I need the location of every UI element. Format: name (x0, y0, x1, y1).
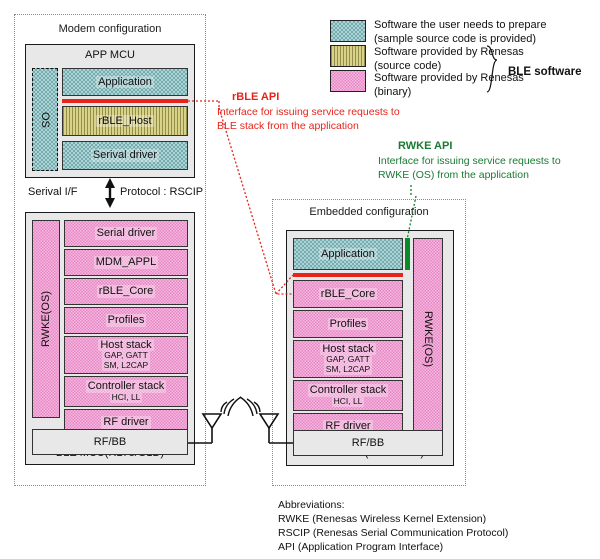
app-mcu-block-serival-driver-label: Serival driver (91, 149, 159, 161)
embedded-block-profiles-label: Profiles (328, 318, 369, 330)
abbreviations-line-3: API (Application Program Interface) (278, 540, 443, 554)
embedded-block-controller-stack-label: Controller stack (308, 384, 388, 396)
radio-wave-arc-right-3 (240, 397, 253, 416)
app-mcu-block-serival-driver: Serival driver (62, 141, 188, 170)
rwke-api-bar-embedded (405, 238, 410, 270)
modem-configuration-title: Modem configuration (14, 23, 206, 35)
modem-block-profiles-label: Profiles (106, 314, 147, 326)
rble-api-line1: Interface for issuing service requests t… (217, 106, 400, 119)
serial-interface-left-label: Serival I/F (28, 186, 78, 198)
modem-rwke-os-column: RWKE(OS) (32, 220, 60, 418)
embedded-block-host-stack: Host stack GAP, GATT SM, L2CAP (293, 340, 403, 378)
embedded-block-application-label: Application (319, 248, 377, 260)
modem-block-serial-driver: Serial driver (64, 220, 188, 247)
embedded-block-rf-bb-label: RF/BB (352, 437, 384, 449)
ble-software-bracket-label: BLE software (508, 66, 582, 78)
app-mcu-block-rble-host: rBLE_Host (62, 106, 188, 136)
app-mcu-block-application-label: Application (96, 76, 154, 88)
legend-swatch-pink (330, 70, 366, 92)
app-mcu-os-label: OS (39, 112, 51, 128)
legend-label-pink-2: (binary) (374, 85, 411, 99)
abbreviations-heading: Abbreviations: (278, 498, 345, 512)
radio-wave-arc-left-2 (224, 399, 234, 414)
modem-block-controller-stack: Controller stack HCI, LL (64, 376, 188, 407)
embedded-block-controller-stack-sub: HCI, LL (332, 397, 365, 407)
app-mcu-title: APP MCU (25, 49, 195, 61)
radio-wave-arc-right-2 (247, 399, 257, 414)
legend-swatch-olive (330, 45, 366, 67)
rble-api-bar-embedded (293, 273, 403, 277)
modem-block-rble-core: rBLE_Core (64, 278, 188, 305)
modem-block-profiles: Profiles (64, 307, 188, 334)
embedded-block-controller-stack: Controller stack HCI, LL (293, 380, 403, 411)
embedded-configuration-title: Embedded configuration (272, 206, 466, 218)
modem-block-serial-driver-label: Serial driver (95, 227, 158, 239)
modem-block-mdm-appl: MDM_APPL (64, 249, 188, 276)
serial-interface-right-label: Protocol : RSCIP (120, 186, 203, 198)
embedded-block-host-stack-sub: GAP, GATT SM, L2CAP (324, 355, 372, 375)
embedded-block-rf-bb: RF/BB (293, 430, 443, 456)
app-mcu-os-column: OS (32, 68, 58, 171)
rble-api-bar-modem (62, 99, 188, 103)
legend-label-pink-1: Software provided by Renesas (374, 71, 524, 85)
embedded-rwke-os-label: RWKE(OS) (422, 311, 434, 367)
app-mcu-block-rble-host-label: rBLE_Host (96, 115, 153, 127)
diagram-canvas: Software the user needs to prepare (samp… (0, 0, 600, 559)
modem-block-rf-driver-label: RF driver (101, 416, 150, 428)
embedded-block-rble-core: rBLE_Core (293, 280, 403, 308)
legend-label-teal-1: Software the user needs to prepare (374, 18, 546, 32)
modem-block-controller-stack-sub: HCI, LL (110, 393, 143, 403)
modem-block-controller-stack-label: Controller stack (86, 380, 166, 392)
rble-api-line2: BLE stack from the application (217, 120, 359, 133)
rwke-api-title: RWKE API (398, 140, 452, 152)
abbreviations-line-2: RSCIP (Renesas Serial Communication Prot… (278, 526, 508, 540)
rwke-api-line2: RWKE (OS) from the application (378, 169, 529, 182)
legend: Software the user needs to prepare (samp… (330, 18, 590, 96)
embedded-rwke-os-column: RWKE(OS) (413, 238, 443, 440)
abbreviations-line-1: RWKE (Renesas Wireless Kernel Extension) (278, 512, 486, 526)
radio-wave-arc-left-1 (221, 402, 227, 412)
modem-block-mdm-appl-label: MDM_APPL (94, 256, 159, 268)
rble-api-title: rBLE API (232, 91, 279, 103)
legend-label-olive-1: Software provided by Renesas (374, 45, 524, 59)
app-mcu-block-application: Application (62, 68, 188, 96)
modem-block-rf-bb: RF/BB (32, 429, 188, 455)
embedded-block-rble-core-label: rBLE_Core (319, 288, 377, 300)
legend-swatch-teal (330, 20, 366, 42)
modem-block-rf-bb-label: RF/BB (94, 436, 126, 448)
modem-rwke-os-label: RWKE(OS) (40, 291, 52, 347)
embedded-block-profiles: Profiles (293, 310, 403, 338)
modem-block-host-stack-sub: GAP, GATT SM, L2CAP (102, 351, 150, 371)
modem-block-host-stack: Host stack GAP, GATT SM, L2CAP (64, 336, 188, 374)
radio-wave-arc-right-1 (254, 402, 260, 412)
modem-block-rble-core-label: rBLE_Core (97, 285, 155, 297)
rwke-api-line1: Interface for issuing service requests t… (378, 155, 561, 168)
embedded-block-application: Application (293, 238, 403, 270)
radio-wave-arc-left-3 (228, 397, 241, 416)
